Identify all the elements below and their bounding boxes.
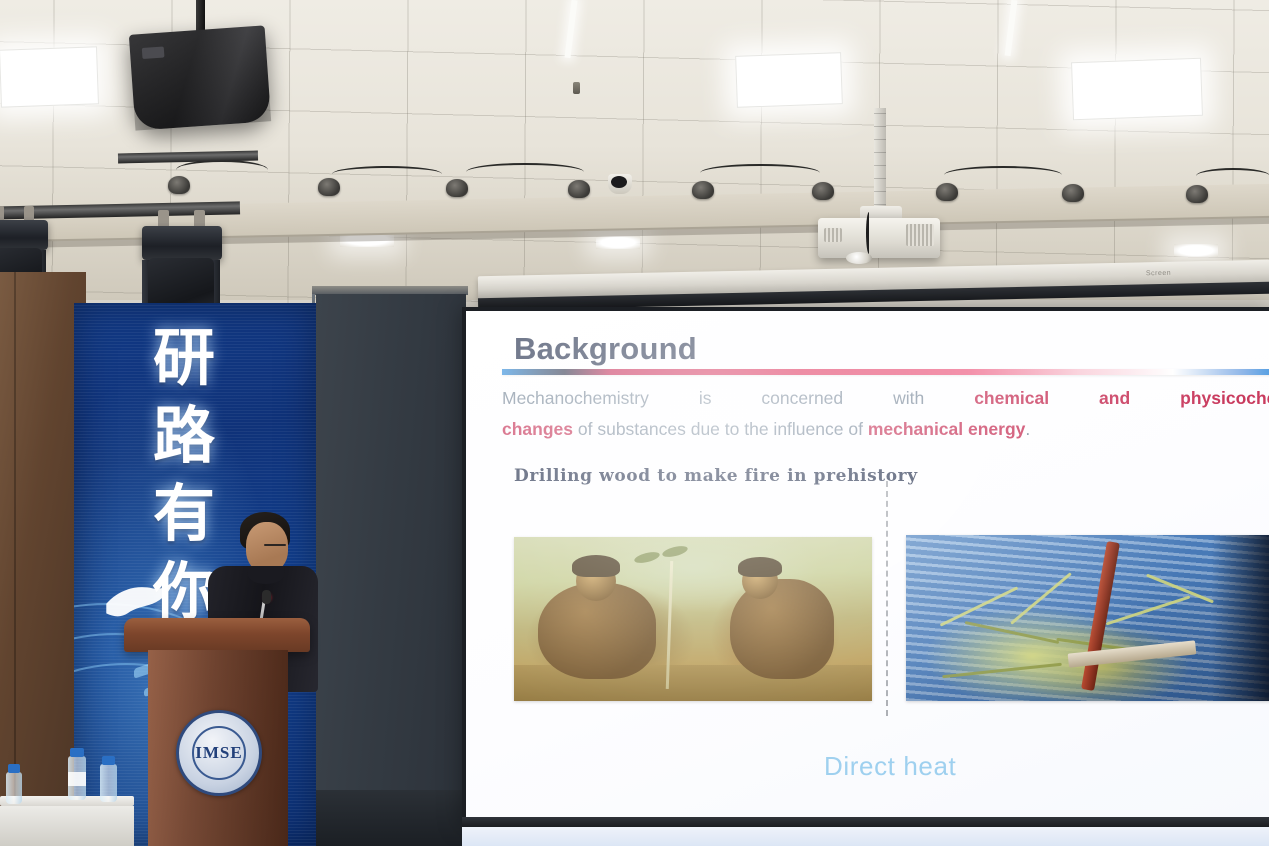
- speaker-badge: [142, 46, 165, 59]
- body-word: of substances due to the influence of: [578, 419, 863, 439]
- microphone-head: [262, 590, 271, 604]
- photo-figure-hair: [738, 557, 782, 577]
- body-word: Mechanochemistry: [502, 383, 649, 414]
- bottle-cap: [102, 756, 115, 765]
- ceiling-light-downlight: [1174, 244, 1218, 257]
- podium-emblem: IMSE: [176, 710, 262, 796]
- slide-accent-bar: [502, 369, 1269, 375]
- slide-body-text: Mechanochemistry is concerned with chemi…: [502, 383, 1269, 445]
- sprinkler-head-icon: [573, 82, 580, 94]
- speaker-grille: [129, 25, 271, 130]
- photo-figure-hair: [572, 555, 620, 577]
- body-highlight: physicochem: [1180, 383, 1269, 414]
- soffit-spotlight-icon: [568, 180, 590, 198]
- ceiling-light-panel: [1071, 58, 1203, 121]
- body-highlight: changes: [502, 419, 573, 439]
- eyeglasses-icon: [264, 544, 286, 546]
- soffit-spotlight-icon: [168, 176, 190, 194]
- water-bottle: [6, 772, 22, 804]
- water-bottle: [100, 764, 117, 802]
- body-highlight: mechanical energy: [868, 419, 1026, 439]
- person-head: [246, 522, 288, 572]
- housing-brand-label: Screen: [1146, 270, 1171, 278]
- person-collar: [248, 566, 284, 584]
- ceiling-light-panel: [0, 46, 99, 107]
- body-period: .: [1025, 419, 1030, 439]
- ceiling-cable: [1196, 168, 1269, 184]
- screen-bottom-border: [462, 817, 1269, 827]
- soffit-spotlight-icon: [318, 178, 340, 196]
- soffit-spotlight-icon: [446, 179, 468, 197]
- wall-panel-dark: [316, 294, 466, 846]
- body-word: concerned: [761, 383, 843, 414]
- ceiling-cable: [944, 166, 1062, 184]
- body-line-1: Mechanochemistry is concerned with chemi…: [502, 383, 1269, 414]
- projection-screen: Background Mechanochemistry is concerned…: [462, 307, 1269, 827]
- bottle-label: [68, 772, 86, 786]
- soffit-spotlight-icon: [1186, 185, 1208, 203]
- photo-figure: [730, 579, 834, 679]
- slide-footer-label: Direct heat: [824, 751, 956, 782]
- ceiling-projector: [818, 218, 940, 258]
- photo-foliage: [661, 544, 688, 559]
- body-word: with: [893, 383, 924, 414]
- screen-lower-strip: [462, 827, 1269, 846]
- ceiling-speaker: [129, 25, 271, 130]
- projector-cable: [866, 212, 872, 254]
- podium-top: [124, 618, 310, 652]
- photo-dark-edge: [1211, 535, 1269, 701]
- presentation-room-photo: Screen 研路有你 IMSE: [0, 0, 1269, 846]
- ceiling-cable: [176, 160, 268, 180]
- soffit-spotlight-icon: [1062, 184, 1084, 202]
- soffit-spotlight-icon: [692, 181, 714, 199]
- slide-title: Background: [514, 331, 697, 367]
- body-highlight: and: [1099, 383, 1130, 414]
- photo-foliage: [633, 550, 660, 565]
- projector-vent: [906, 224, 934, 246]
- slide-photo-right: [906, 535, 1269, 701]
- ceiling-cable: [466, 163, 584, 181]
- slide-content: Background Mechanochemistry is concerned…: [466, 311, 1269, 817]
- photo-divider: [886, 481, 888, 716]
- front-table-front: [0, 806, 134, 846]
- slide-photo-left: [514, 537, 872, 701]
- slide-subheading: Drilling wood to make fire in prehistory: [514, 466, 918, 486]
- body-word: is: [699, 383, 712, 414]
- ceiling-cable: [700, 164, 820, 182]
- ceiling-light-panel: [735, 52, 843, 108]
- light-yoke: [142, 226, 222, 260]
- bottle-cap: [8, 764, 20, 773]
- podium-emblem-text: IMSE: [192, 726, 246, 780]
- projector-mount-pole: [874, 108, 886, 218]
- ceiling-camera-icon: [608, 174, 632, 194]
- body-highlight: chemical: [974, 383, 1049, 414]
- dove-icon: [102, 571, 180, 625]
- light-yoke: [0, 220, 48, 250]
- ceiling-cable: [332, 166, 442, 182]
- bottle-cap: [70, 748, 84, 757]
- soffit-spotlight-icon: [812, 182, 834, 200]
- projector-vent: [824, 228, 842, 242]
- body-line-2: changes of substances due to the influen…: [502, 414, 1269, 445]
- floor-shadow-area: [316, 790, 466, 846]
- soffit-spotlight-icon: [936, 183, 958, 201]
- ceiling-light-downlight: [596, 236, 640, 249]
